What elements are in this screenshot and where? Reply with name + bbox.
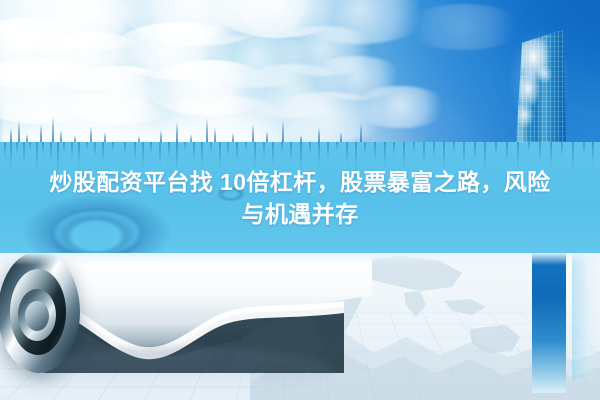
blue-pillar (532, 253, 566, 393)
headline-text-block: 炒股配资平台找 10倍杠杆，股票暴富之路，风险 与机遇并存 (0, 142, 600, 253)
headline-line-2: 与机遇并存 (242, 199, 359, 229)
skyline-spikes (0, 116, 600, 144)
lower-panel-top-fade (0, 253, 600, 265)
headline-line-1: 炒股配资平台找 10倍杠杆，股票暴富之路，风险 (49, 167, 550, 197)
rolled-paper-wave (0, 253, 372, 389)
paper-roll-core (25, 301, 49, 331)
banner-image: 炒股配资平台找 10倍杠杆，股票暴富之路，风险 与机遇并存 (0, 0, 600, 400)
lower-panel (0, 253, 600, 400)
paper-reflection (32, 347, 332, 393)
blue-pillar-glow (572, 253, 600, 379)
